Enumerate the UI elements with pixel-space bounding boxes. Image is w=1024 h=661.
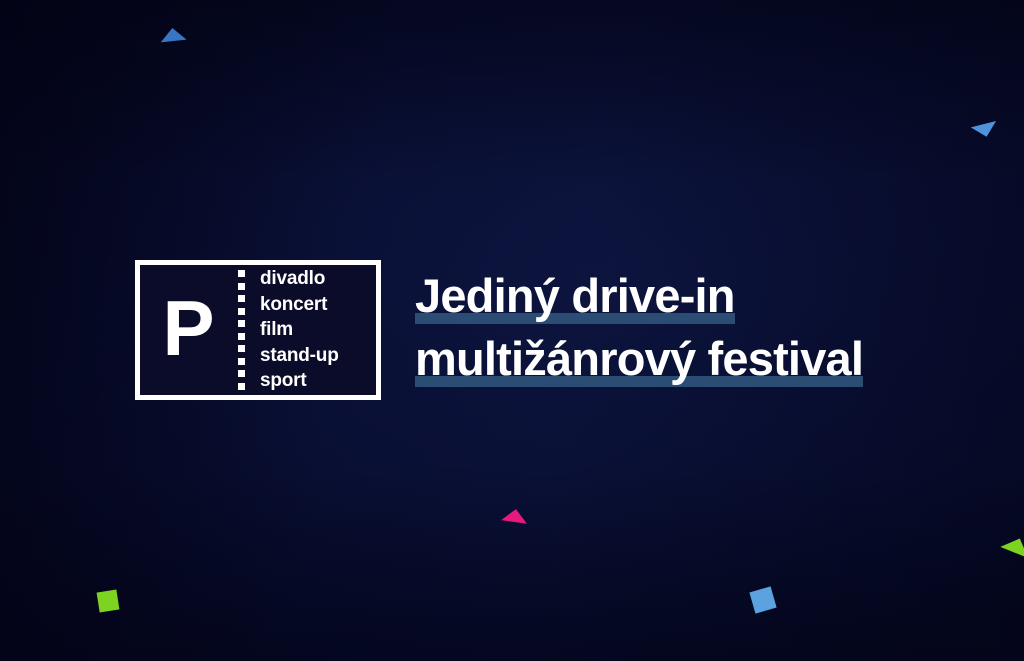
logo-genre-sport: sport <box>260 368 376 393</box>
headline-line-1: Jediný drive-in <box>415 271 735 322</box>
headline-line-2: multižánrový festival <box>415 334 863 385</box>
headline-text-1: Jediný drive-in <box>415 271 735 322</box>
ticket-perforation-icon <box>236 265 246 395</box>
headline: Jediný drive-in multižánrový festival <box>415 271 975 385</box>
logo-letter: P <box>162 289 213 367</box>
square-green-bottom-left-icon <box>97 590 120 613</box>
logo-genre-koncert: koncert <box>260 292 376 317</box>
logo-genre-list: divadlo koncert film stand-up sport <box>246 265 376 395</box>
logo-genre-divadlo: divadlo <box>260 266 376 291</box>
festival-logo[interactable]: P divadlo koncert film stand-up sport <box>135 260 381 400</box>
logo-genre-film: film <box>260 317 376 342</box>
hero-banner: P divadlo koncert film stand-up sport Je… <box>0 0 1024 661</box>
headline-text-2: multižánrový festival <box>415 334 863 385</box>
triangle-blue-top-left-icon <box>159 27 186 43</box>
logo-letter-block: P <box>140 265 236 395</box>
logo-genre-stand-up: stand-up <box>260 343 376 368</box>
